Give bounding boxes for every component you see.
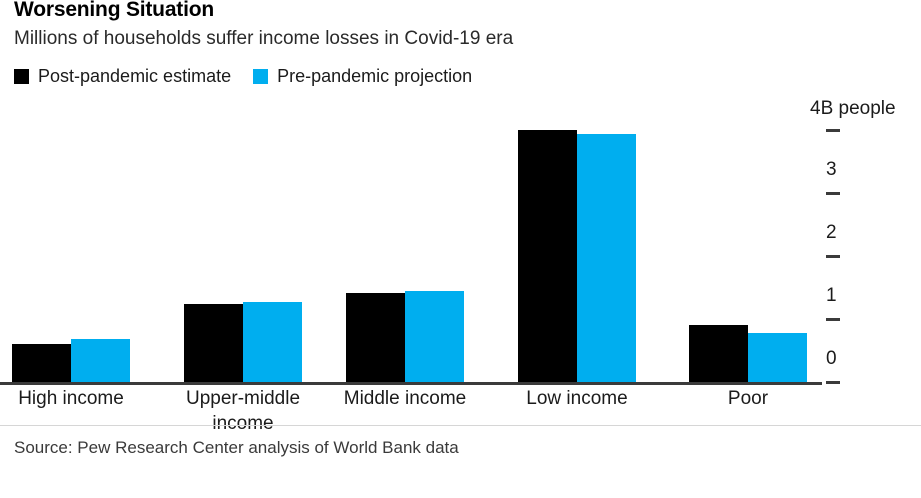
bar-pre-pandemic [71, 339, 130, 382]
bar-pre-pandemic [243, 302, 302, 382]
bar-pre-pandemic [405, 291, 464, 382]
bar-post-pandemic [518, 130, 577, 382]
x-axis-label: Middle income [315, 386, 495, 411]
y-tick-dash [826, 381, 840, 384]
x-axis-label: Upper-middle income [153, 386, 333, 436]
y-tick-dash [826, 129, 840, 132]
bar-pre-pandemic [748, 333, 807, 382]
bar-group [12, 100, 130, 382]
bar-post-pandemic [346, 293, 405, 382]
y-tick-label: 2 [826, 222, 837, 244]
page-title: Worsening Situation [14, 0, 214, 22]
bar-group [689, 100, 807, 382]
chart-subtitle: Millions of households suffer income los… [14, 28, 513, 50]
plot-area: ) [0, 100, 921, 385]
bar-post-pandemic [184, 304, 243, 382]
x-axis-labels: High incomeUpper-middle incomeMiddle inc… [0, 386, 822, 444]
legend-label-post-pandemic: Post-pandemic estimate [38, 66, 231, 87]
bar-post-pandemic [689, 325, 748, 382]
legend-swatch-black [14, 69, 29, 84]
chart-legend: Post-pandemic estimate Pre-pandemic proj… [14, 66, 472, 87]
legend-swatch-blue [253, 69, 268, 84]
bar-group [346, 100, 464, 382]
y-tick-label: 1 [826, 285, 837, 307]
y-tick-label: 0 [826, 348, 837, 370]
y-tick-label: 4B people [810, 98, 896, 120]
bar-group [518, 100, 636, 382]
bars-layer [0, 100, 822, 382]
footer-divider [0, 425, 921, 426]
source-note: Source: Pew Research Center analysis of … [14, 438, 459, 458]
x-axis-label: Poor [658, 386, 838, 411]
bar-pre-pandemic [577, 134, 636, 382]
legend-label-pre-pandemic: Pre-pandemic projection [277, 66, 472, 87]
y-tick-dash [826, 192, 840, 195]
y-tick-label: 3 [826, 159, 837, 181]
legend-item-pre-pandemic: Pre-pandemic projection [253, 66, 472, 87]
x-axis-label: High income [0, 386, 161, 411]
y-tick-dash [826, 255, 840, 258]
x-axis-line [0, 382, 822, 385]
bar-post-pandemic [12, 344, 71, 382]
y-axis: 01234B people [822, 100, 921, 390]
x-axis-label: Low income [487, 386, 667, 411]
bar-group [184, 100, 302, 382]
y-tick-dash [826, 318, 840, 321]
legend-item-post-pandemic: Post-pandemic estimate [14, 66, 231, 87]
chart-container: Worsening Situation Millions of househol… [0, 0, 921, 498]
